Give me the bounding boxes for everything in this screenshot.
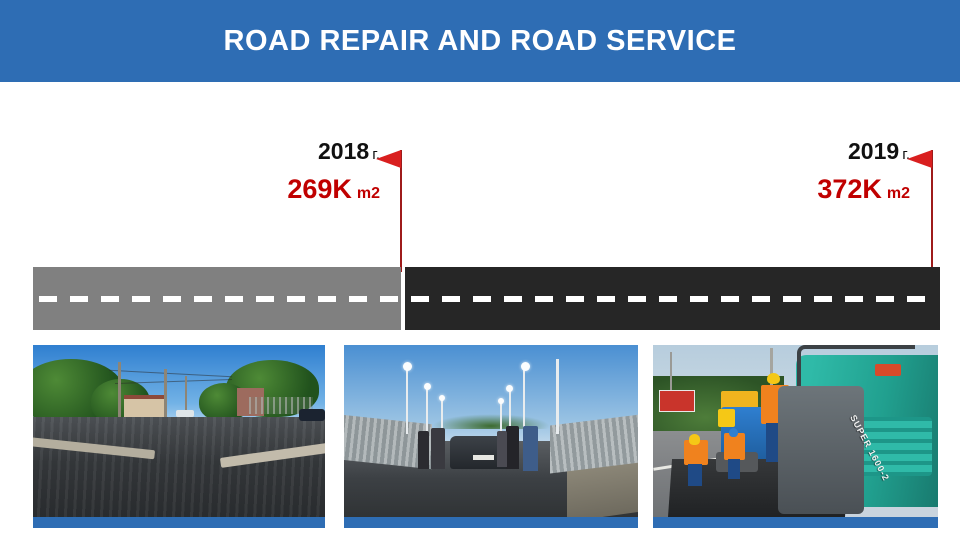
car [176,410,194,417]
worker-legs [728,459,740,480]
road-worker [721,428,750,480]
photo-scene [33,345,325,517]
paver-brand-badge [875,364,901,376]
stat-block-2019: 2019г. 372Km2 [680,138,910,210]
stat-value-2018: 269K [287,174,352,204]
lamp-post [406,366,408,435]
stat-unit-2018: m2 [352,185,380,202]
utility-pole [164,369,167,421]
utility-pole [118,362,121,424]
billboard [659,390,695,413]
stat-block-2018: 2018г. 269Km2 [150,138,380,210]
photo-footer-bar [344,517,638,528]
license-plate [473,455,494,460]
lamp-head [403,362,412,371]
stat-value-row-2018: 269Km2 [150,173,380,210]
safety-vest [718,409,735,427]
stat-year-2019: 2019 [848,138,899,164]
road-lane-marking [39,296,934,302]
hard-hat [767,373,780,385]
photo-scene [344,345,638,517]
car [299,409,325,421]
flag-pole-icon [931,150,933,272]
page-title: ROAD REPAIR AND ROAD SERVICE [0,23,960,59]
stat-value-row-2019: 372Km2 [680,173,910,210]
stat-year-row-2018: 2018г. [150,138,380,168]
photo-footer-bar [653,517,938,528]
photo-card-new-road [33,345,325,528]
photo-scene: SUPER 1600-2 [653,345,938,517]
pedestrian [506,426,519,469]
pedestrian [497,431,507,467]
lamp-head [506,385,513,392]
lamp-post [523,366,525,435]
hard-hat [689,434,700,444]
paver-screed-unit [778,386,864,513]
stat-year-row-2019: 2019г. [680,138,910,168]
photo-card-bridge [344,345,638,528]
lamp-head [424,383,431,390]
pedestrian [523,426,538,471]
flag-pole-icon [400,150,402,272]
road-worker [716,403,739,434]
worker-legs [688,464,702,486]
flag-banner-icon [376,150,401,168]
stat-unit-2019: m2 [882,185,910,202]
lamp-post [556,359,559,435]
photo-footer-bar [33,517,325,528]
road-strip-infographic [33,267,940,330]
road-worker [682,434,713,486]
photo-card-paving-crew: SUPER 1600-2 [653,345,938,528]
pedestrian [431,428,446,469]
pedestrian [418,431,430,469]
asphalt-road [33,417,325,517]
stat-value-2019: 372K [817,174,882,204]
stat-year-2018: 2018 [318,138,369,164]
flag-banner-icon [907,150,932,168]
